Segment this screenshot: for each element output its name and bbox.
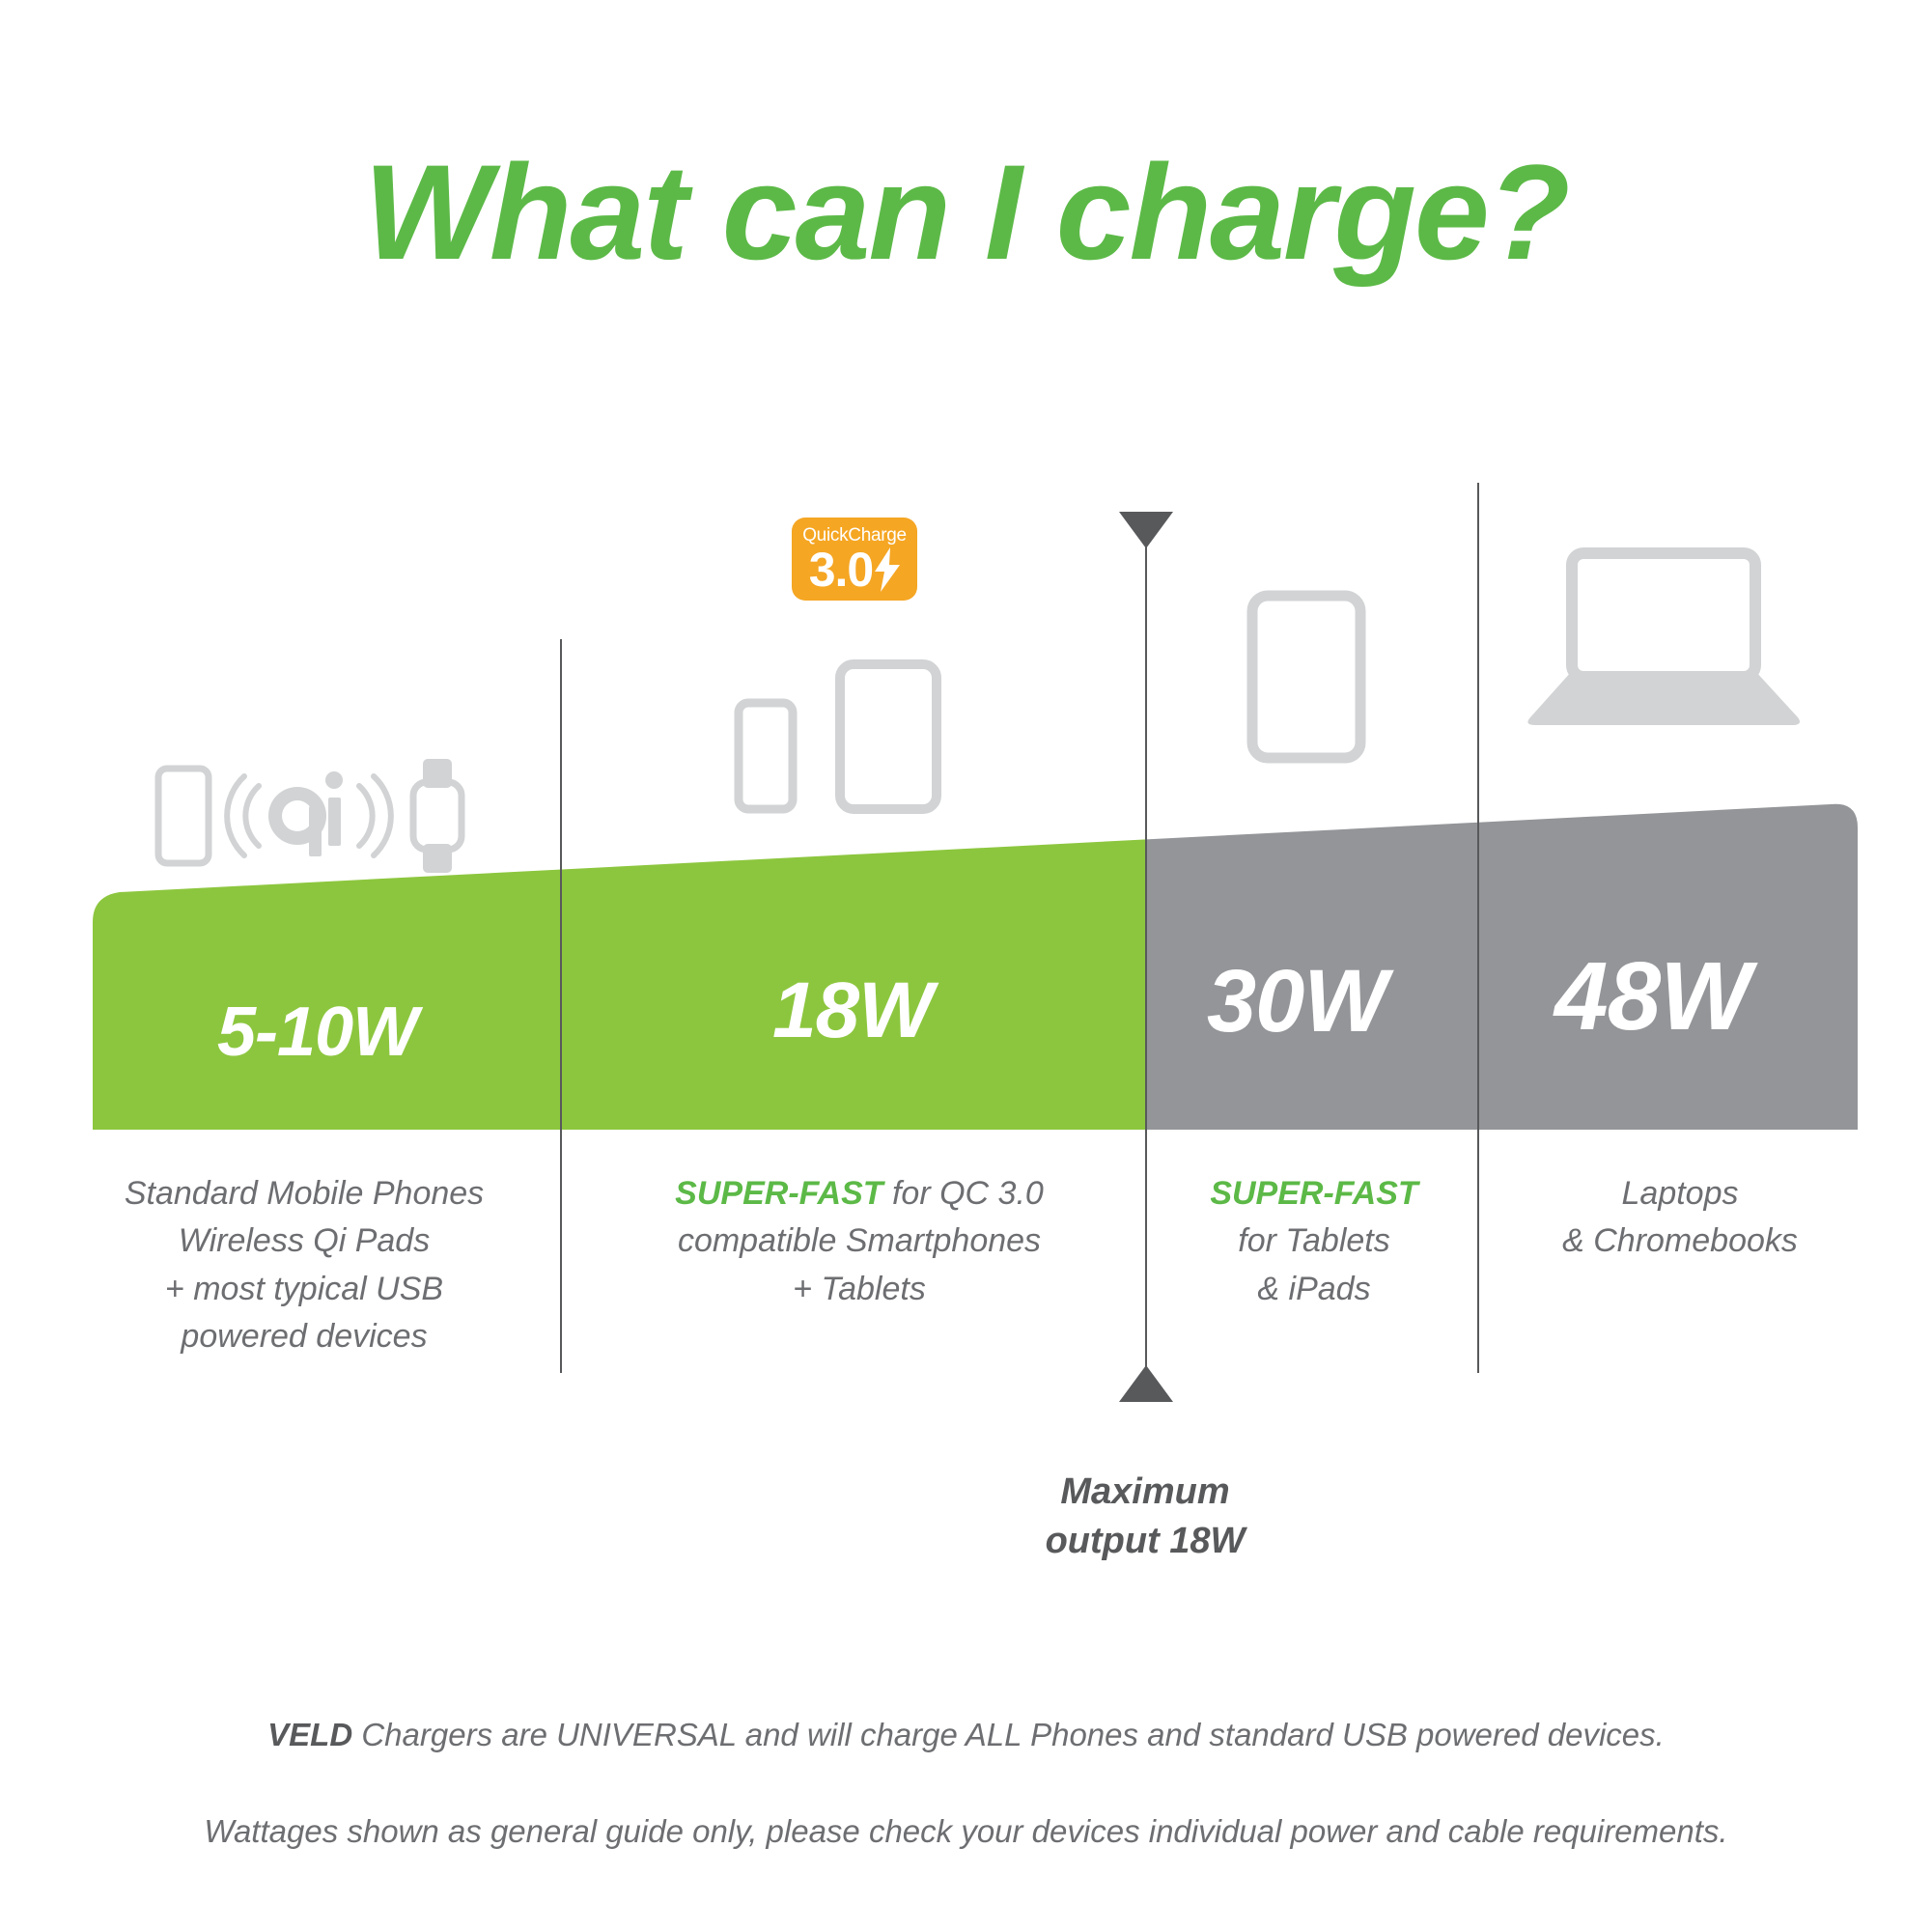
tablet-icon — [1252, 596, 1360, 758]
caption-line: for QC 3.0 — [892, 1175, 1044, 1212]
caption-line: powered devices — [181, 1318, 427, 1355]
device-icons-group-1 — [154, 753, 473, 879]
caption-highlight: SUPER-FAST — [675, 1175, 882, 1212]
maximum-output-line-1: Maximum — [1060, 1471, 1229, 1512]
caption-column-4: Laptops & Chromebooks — [1487, 1170, 1873, 1266]
caption-line: + most typical USB — [165, 1271, 443, 1307]
maximum-output-line-2: output 18W — [1046, 1521, 1246, 1561]
caption-column-2: SUPER-FAST for QC 3.0 compatible Smartph… — [579, 1170, 1139, 1313]
laptop-icon — [1527, 553, 1800, 725]
footer-note-1-text: Chargers are UNIVERSAL and will charge A… — [352, 1717, 1665, 1752]
column-divider-2 — [1145, 512, 1147, 1402]
caption-column-3: SUPER-FAST for Tablets & iPads — [1155, 1170, 1473, 1313]
column-divider-3 — [1477, 483, 1479, 1373]
caption-line: Wireless Qi Pads — [179, 1222, 430, 1259]
caption-line: Laptops — [1622, 1175, 1739, 1212]
caption-line: compatible Smartphones — [678, 1222, 1041, 1259]
quickcharge-badge-version: 3.0 — [809, 546, 874, 594]
quickcharge-badge: QuickCharge 3.0 — [792, 518, 917, 601]
caption-column-1: Standard Mobile Phones Wireless Qi Pads … — [58, 1170, 550, 1360]
device-icons-group-4 — [1526, 546, 1815, 739]
device-icons-group-3 — [1246, 589, 1371, 772]
footer-note-2: Wattages shown as general guide only, pl… — [0, 1813, 1932, 1850]
infographic-canvas: What can I charge? 5-10W 18W 30W 48W — [0, 0, 1932, 1932]
maximum-output-label: Maximum output 18W — [952, 1468, 1338, 1567]
lightning-bolt-icon — [875, 547, 900, 592]
brand-name: VELD — [267, 1717, 352, 1752]
tablet-icon — [840, 664, 937, 809]
wireless-qi-icon — [227, 771, 391, 856]
bar-label-18w: 18W — [772, 966, 933, 1056]
phone-icon — [739, 703, 793, 809]
caption-line: for Tablets — [1238, 1222, 1390, 1259]
caption-line: + Tablets — [793, 1271, 926, 1307]
caption-line: Standard Mobile Phones — [125, 1175, 484, 1212]
bar-label-48w: 48W — [1554, 941, 1750, 1052]
bar-label-30w: 30W — [1207, 951, 1386, 1052]
caption-line: & iPads — [1257, 1271, 1370, 1307]
triangle-up-icon — [1119, 1365, 1173, 1402]
caption-line: & Chromebooks — [1562, 1222, 1798, 1259]
page-title: What can I charge? — [0, 145, 1932, 280]
phone-icon — [158, 769, 209, 863]
footer-note-1: VELD Chargers are UNIVERSAL and will cha… — [0, 1717, 1932, 1753]
smartwatch-icon — [413, 759, 462, 873]
column-divider-1 — [560, 639, 562, 1373]
caption-highlight: SUPER-FAST — [1210, 1175, 1417, 1212]
device-icons-group-2 — [734, 647, 966, 840]
triangle-down-icon — [1119, 512, 1173, 548]
bar-label-5-10w: 5-10W — [217, 993, 417, 1072]
